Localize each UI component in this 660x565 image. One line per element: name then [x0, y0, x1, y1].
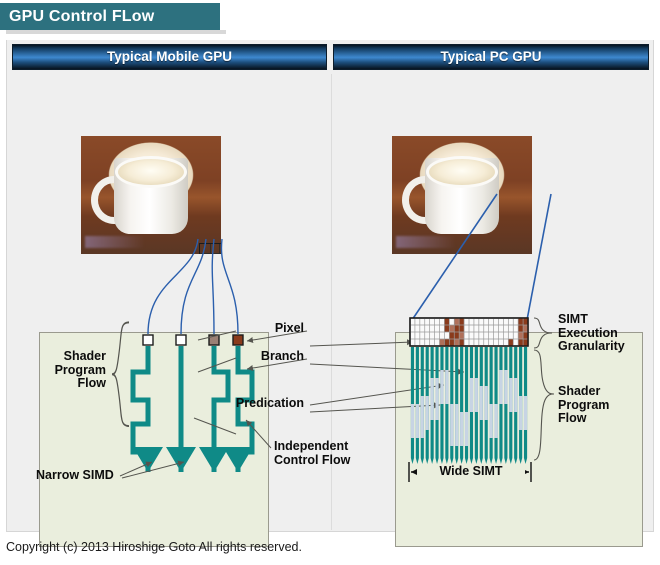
label-wide-simt: Wide SIMT [417, 465, 525, 479]
title-shadow [6, 30, 226, 34]
cup-foam-icon [115, 156, 187, 188]
mobile-gpu-coffee-photo [81, 136, 221, 254]
pc-gpu-flow-diagram [395, 332, 643, 547]
label-narrow-simd: Narrow SIMD [36, 469, 114, 483]
coarse-pixel-grid [199, 243, 221, 254]
label-shader-program-flow-right: Shader Program Flow [558, 385, 654, 426]
cup-foam-icon [426, 156, 498, 188]
pc-gpu-coffee-photo [392, 136, 532, 254]
label-shader-program-flow-left: Shader Program Flow [28, 350, 106, 391]
table-reflection [85, 236, 145, 248]
label-predication: Predication [222, 397, 304, 411]
label-simt-execution-granularity: SIMT Execution Granularity [558, 313, 654, 354]
column-header-mobile-gpu: Typical Mobile GPU [12, 44, 327, 70]
copyright-footer: Copyright (c) 2013 Hiroshige Goto All ri… [6, 540, 302, 554]
label-independent-control-flow: Independent Control Flow [274, 440, 370, 467]
column-header-pc-gpu: Typical PC GPU [333, 44, 649, 70]
label-pixel: Pixel [236, 322, 304, 336]
label-branch: Branch [236, 350, 304, 364]
table-reflection [396, 236, 456, 248]
page-title: GPU Control FLow [0, 3, 220, 30]
